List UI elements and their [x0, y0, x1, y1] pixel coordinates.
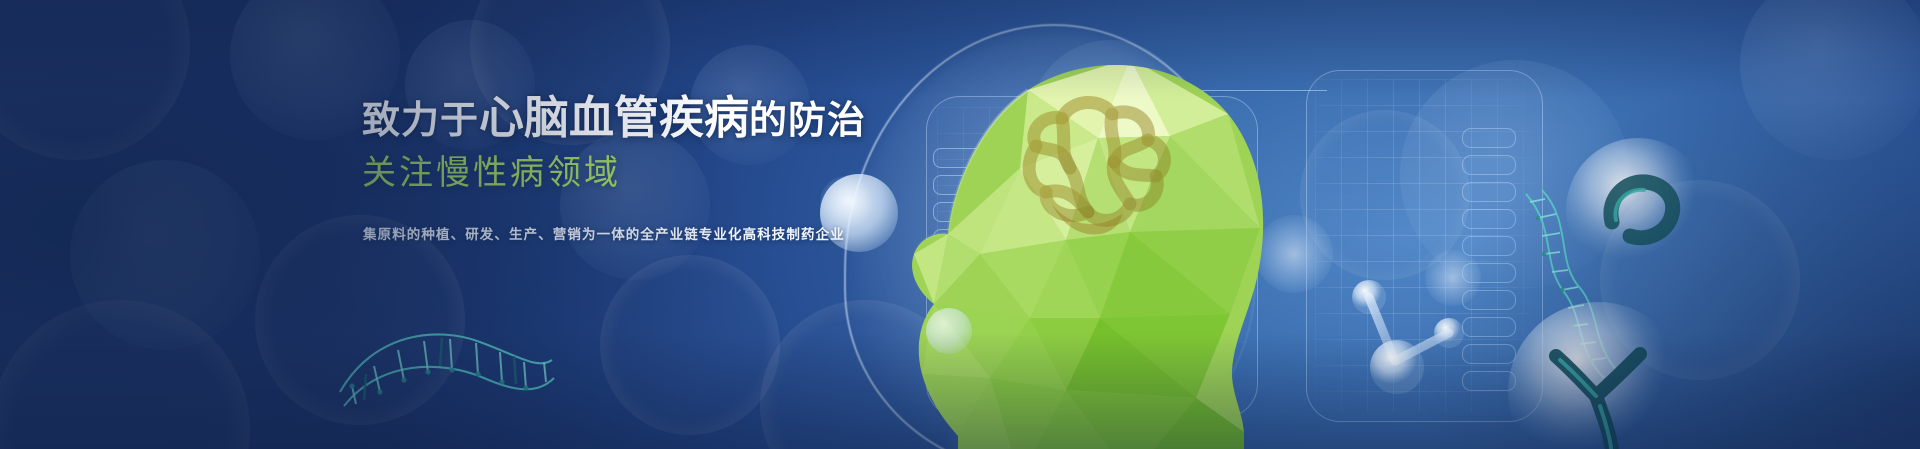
- hero-banner: 致力于心脑血管疾病的防治 关注慢性病领域 集原料的种植、研发、生产、营销为一体的…: [0, 0, 1920, 449]
- background-vignette: [0, 0, 1920, 449]
